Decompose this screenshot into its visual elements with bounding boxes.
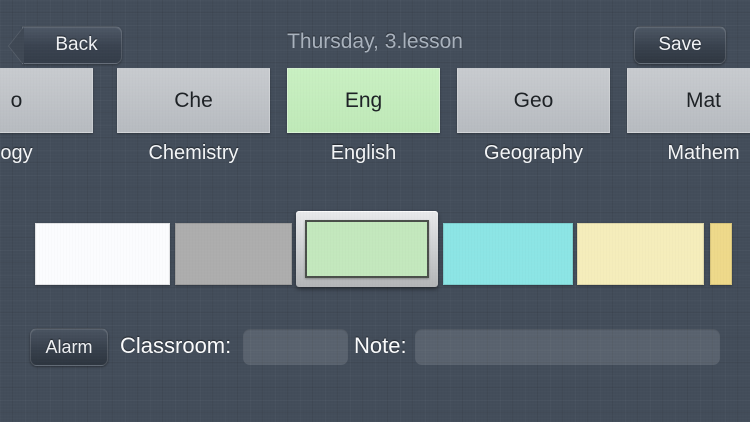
color-swatch-pale-yellow[interactable] <box>577 223 704 285</box>
classroom-input[interactable] <box>243 329 348 365</box>
subject-tile[interactable]: o <box>0 68 93 133</box>
subject-abbreviation: Che <box>174 89 213 113</box>
subject-abbreviation: Geo <box>514 89 554 113</box>
subject-cell[interactable]: GeoGeography <box>457 68 610 165</box>
color-swatch-gold[interactable] <box>710 223 732 285</box>
subject-tile[interactable]: Geo <box>457 68 610 133</box>
subject-cell[interactable]: MatMathem <box>627 68 750 165</box>
color-swatch-cyan[interactable] <box>443 223 573 285</box>
subject-abbreviation: o <box>11 89 23 113</box>
color-swatch-fill[interactable] <box>305 220 429 278</box>
color-swatch-fill[interactable] <box>443 223 573 285</box>
subject-name-label: ogy <box>0 142 93 165</box>
top-navigation-bar: Back Thursday, 3.lesson Save <box>0 0 750 66</box>
note-input[interactable] <box>415 329 720 365</box>
subject-name-label: Geography <box>457 142 610 165</box>
color-swatch-green[interactable] <box>296 211 438 287</box>
subject-cell[interactable]: EngEnglish <box>287 68 440 165</box>
subject-selector-strip[interactable]: oogyCheChemistryEngEnglishGeoGeographyMa… <box>0 68 750 178</box>
subject-cell[interactable]: oogy <box>0 68 93 165</box>
save-button-label: Save <box>658 34 701 56</box>
alarm-button[interactable]: Alarm <box>30 328 108 366</box>
color-selector-strip[interactable] <box>0 205 750 305</box>
subject-name-label: English <box>287 142 440 165</box>
app-background: Back Thursday, 3.lesson Save oogyCheChem… <box>0 0 750 422</box>
subject-abbreviation: Mat <box>686 89 721 113</box>
subject-tile[interactable]: Mat <box>627 68 750 133</box>
color-swatch-white[interactable] <box>35 223 170 285</box>
classroom-label: Classroom: <box>120 333 231 359</box>
bottom-toolbar: Alarm Classroom: Note: <box>0 326 750 376</box>
subject-tile[interactable]: Che <box>117 68 270 133</box>
save-button[interactable]: Save <box>634 26 726 64</box>
subject-tile[interactable]: Eng <box>287 68 440 133</box>
subject-cell[interactable]: CheChemistry <box>117 68 270 165</box>
alarm-button-label: Alarm <box>45 337 92 358</box>
color-swatch-fill[interactable] <box>35 223 170 285</box>
note-label: Note: <box>354 333 407 359</box>
color-swatch-fill[interactable] <box>710 223 732 285</box>
subject-name-label: Chemistry <box>117 142 270 165</box>
color-swatch-fill[interactable] <box>175 223 292 285</box>
subject-abbreviation: Eng <box>345 89 382 113</box>
subject-name-label: Mathem <box>627 142 750 165</box>
color-swatch-fill[interactable] <box>577 223 704 285</box>
color-swatch-grey[interactable] <box>175 223 292 285</box>
